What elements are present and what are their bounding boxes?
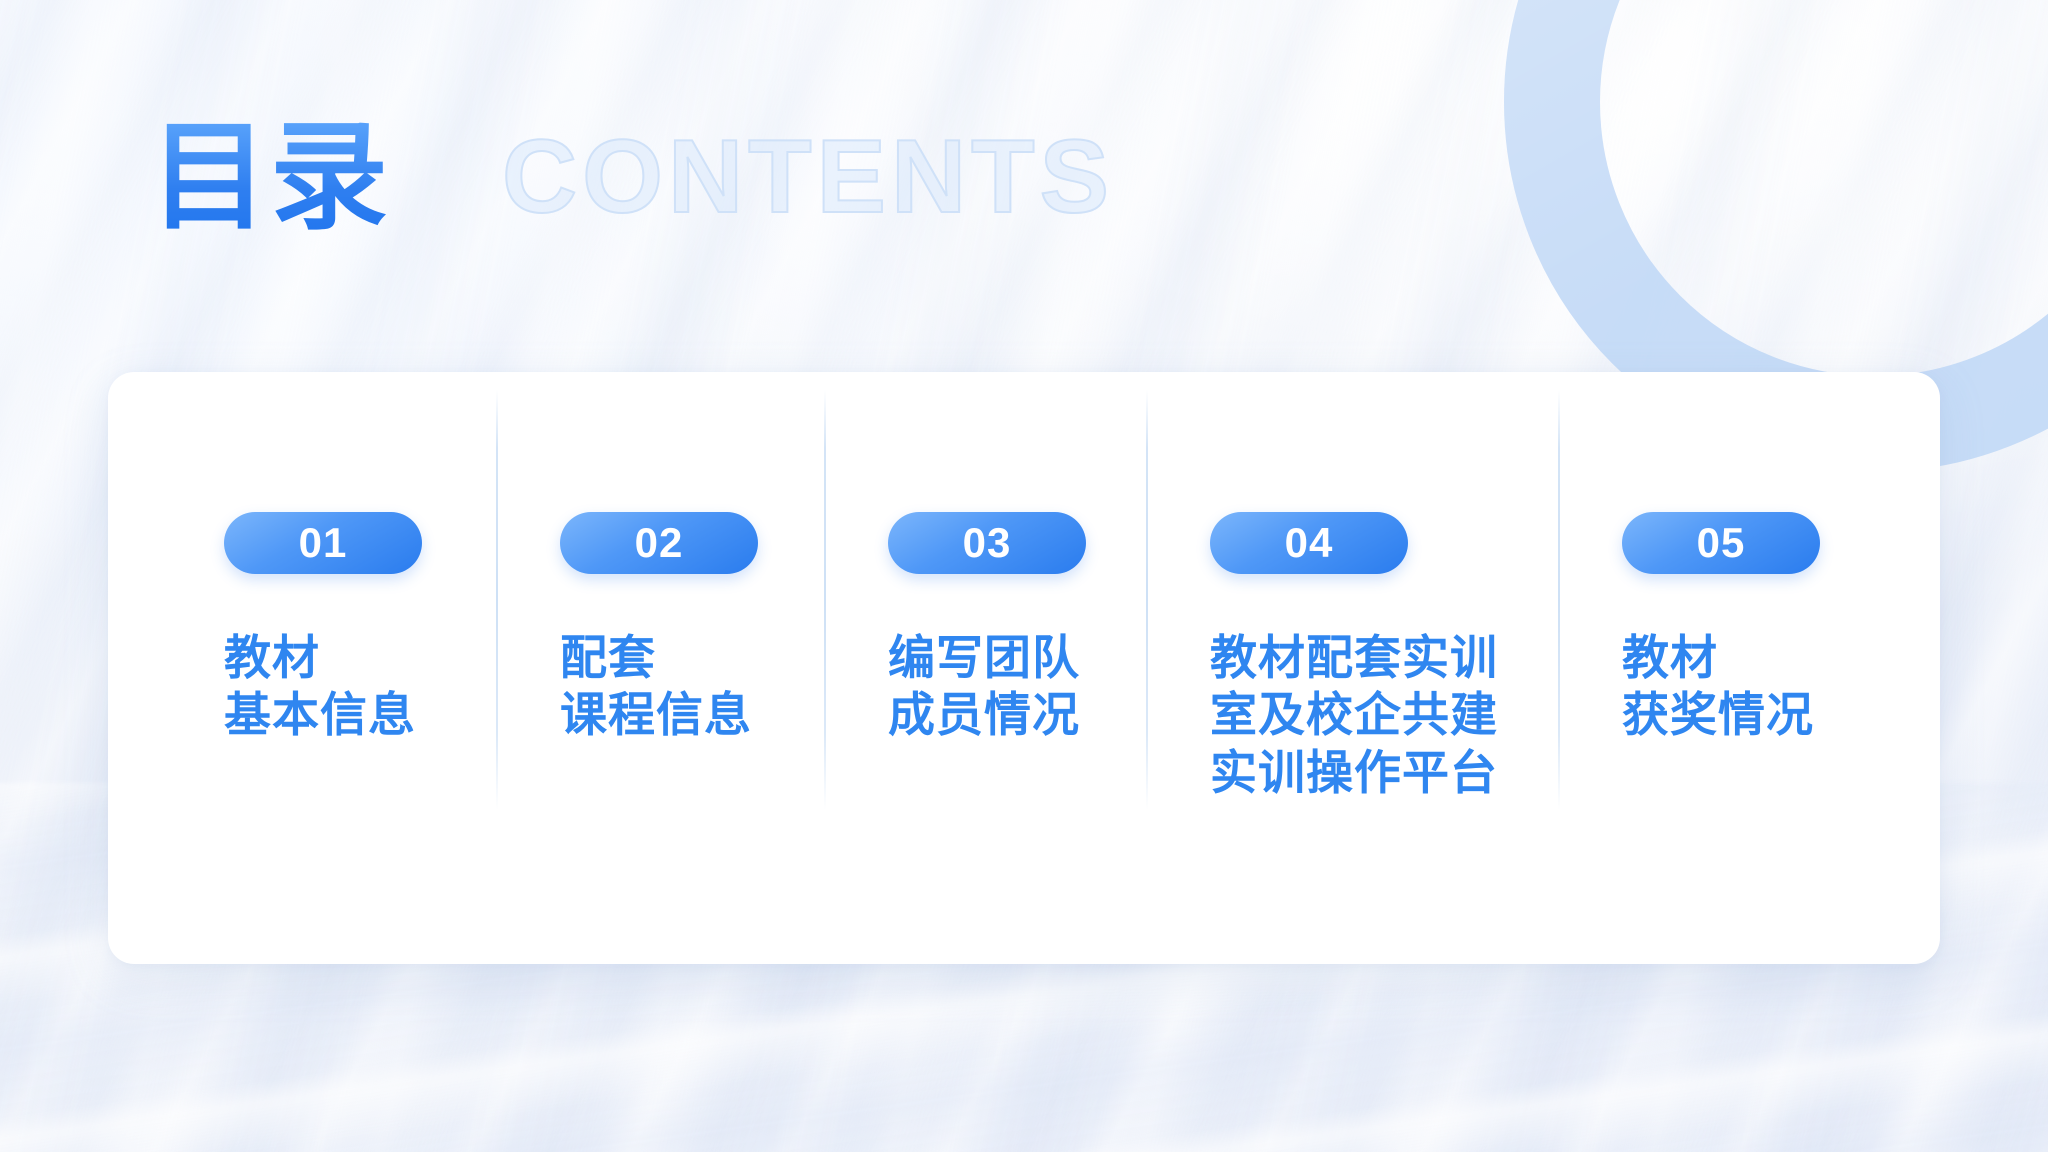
page-title-english: CONTENTS [502,125,1114,229]
contents-item-01[interactable]: 01 教材 基本信息 [166,512,496,745]
page-title: 目录 CONTENTS [150,118,1114,236]
contents-item-05[interactable]: 05 教材 获奖情况 [1558,512,1938,745]
column-divider [1558,390,1560,810]
contents-column-list: 01 教材 基本信息 02 配套 课程信息 03 编写团队 成员情况 04 教材… [108,372,1940,964]
contents-item-03[interactable]: 03 编写团队 成员情况 [824,512,1146,745]
column-divider [496,390,498,810]
contents-number-badge[interactable]: 02 [560,512,758,574]
column-divider [1146,390,1148,810]
contents-item-title[interactable]: 教材配套实训 室及校企共建 实训操作平台 [1210,630,1558,802]
contents-item-title[interactable]: 教材 获奖情况 [1622,630,1938,745]
contents-number-badge[interactable]: 05 [1622,512,1820,574]
contents-card: 01 教材 基本信息 02 配套 课程信息 03 编写团队 成员情况 04 教材… [108,372,1940,964]
page-title-chinese: 目录 [150,118,390,236]
contents-number-badge[interactable]: 01 [224,512,422,574]
slide-canvas: 目录 CONTENTS 01 教材 基本信息 02 配套 课程信息 03 编写团… [0,0,2048,1152]
column-divider [824,390,826,810]
contents-item-title[interactable]: 教材 基本信息 [224,630,496,745]
contents-item-04[interactable]: 04 教材配套实训 室及校企共建 实训操作平台 [1146,512,1558,802]
contents-item-title[interactable]: 配套 课程信息 [560,630,824,745]
contents-number-badge[interactable]: 03 [888,512,1086,574]
contents-item-title[interactable]: 编写团队 成员情况 [888,630,1146,745]
contents-item-02[interactable]: 02 配套 课程信息 [496,512,824,745]
contents-number-badge[interactable]: 04 [1210,512,1408,574]
